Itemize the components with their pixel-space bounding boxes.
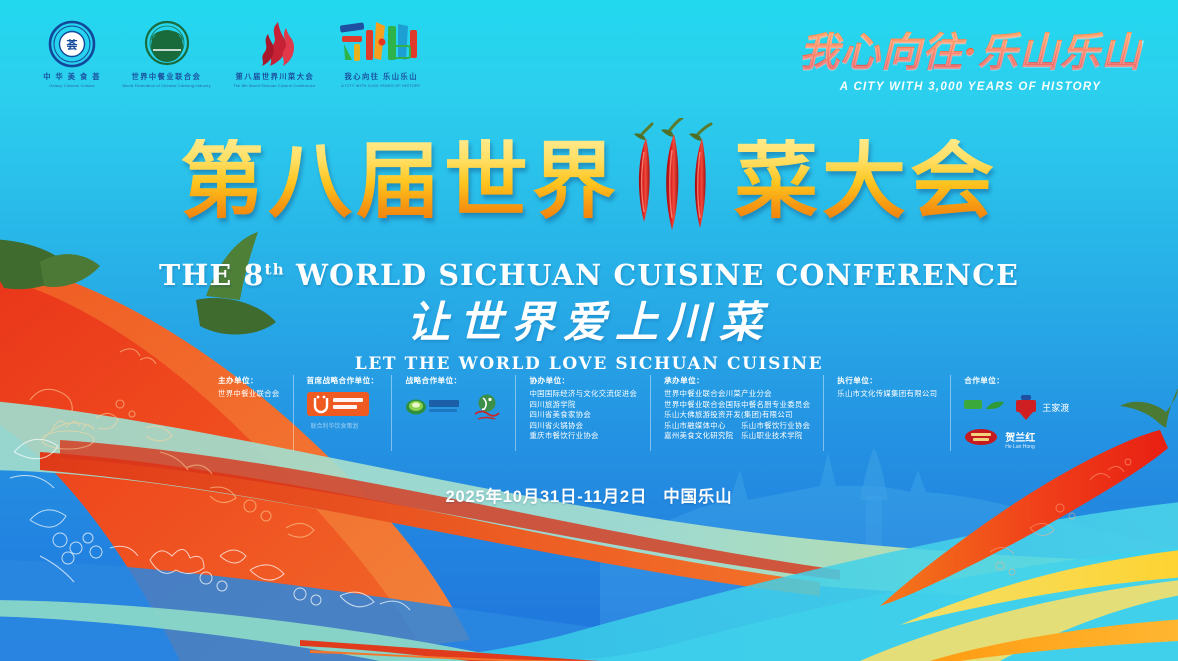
title-cn-right: 菜大会 xyxy=(734,139,998,223)
event-dates: 2025年10月31日-11月2日 xyxy=(446,488,648,506)
cyan-swoosh-2 xyxy=(520,545,1178,661)
org-head: 合作单位： xyxy=(964,375,1069,386)
teal-thin-band xyxy=(0,600,520,661)
org-line: 世界中餐业联合会国际中餐名厨专业委员会 xyxy=(664,400,810,411)
conference-poster: 荟 中 华 美 食 荟 Galaxy Chinese Cuisine 世界中餐业… xyxy=(0,0,1178,661)
logo-conference-flame[interactable]: 第八届世界川菜大会 The 8th World Sichuan Cuisine … xyxy=(231,20,317,88)
city-slogan-cn: 我心向往·乐山乐山 xyxy=(799,20,1142,78)
logo-label-en: World Federation of Chinese Catering Ind… xyxy=(123,83,211,88)
logo-world-federation[interactable]: 世界中餐业联合会 World Federation of Chinese Cat… xyxy=(120,20,213,88)
tagline-block: 让世界爱上川菜 LET THE WORLD LOVE SICHUAN CUISI… xyxy=(0,288,1178,374)
red-thin-band xyxy=(300,640,600,661)
red-ribbon-2 xyxy=(60,440,840,580)
org-line: 世界中餐业联合会川菜产业分会 xyxy=(664,389,810,400)
main-title-cn: 第八届世界 xyxy=(180,118,998,244)
chunzhirun-logo[interactable] xyxy=(472,392,502,422)
right-chili-stem xyxy=(1120,388,1178,428)
title-en-prefix: THE 8 xyxy=(159,258,265,292)
title-en-sup: th xyxy=(265,261,285,279)
org-line: 嘉州美食文化研究院 乐山职业技术学院 xyxy=(664,431,810,442)
blue-wedge-lower xyxy=(0,560,1178,661)
logo-label-cn: 第八届世界川菜大会 xyxy=(235,71,314,82)
main-title-block: 第八届世界 xyxy=(0,118,1178,292)
logo-label-en: A CITY WITH 3,000 YEARS OF HISTORY xyxy=(341,83,421,88)
org-col-chief-strategic-partner: 首席战略合作单位： 联合利华饮食策划 xyxy=(293,375,392,451)
org-line: 乐山市文化传媒集团有限公司 xyxy=(837,389,937,400)
orange-thin-band xyxy=(310,650,610,661)
org-col-organizers: 承办单位： 世界中餐业联合会川菜产业分会 世界中餐业联合会国际中餐名厨专业委员会… xyxy=(650,375,823,451)
org-col-host: 主办单位： 世界中餐业联合会 xyxy=(205,375,293,451)
wangjiadu-logo[interactable]: 王家渡 xyxy=(1013,392,1069,422)
org-line: 重庆市餐饮行业协会 xyxy=(529,431,637,442)
org-head: 协办单位： xyxy=(529,375,637,386)
helanhong-label-cn: 贺兰红 xyxy=(1005,429,1035,444)
organizer-row: 主办单位： 世界中餐业联合会 首席战略合作单位： 联合利华饮食策划 战 xyxy=(205,375,1082,451)
leshan-city-brand-logo xyxy=(336,16,426,68)
org-logos xyxy=(405,392,502,422)
org-line: 乐山大佛旅游投资开发(集团)有限公司 xyxy=(664,410,810,421)
event-dateline: 2025年10月31日-11月2日中国乐山 xyxy=(0,483,1178,507)
org-head: 战略合作单位： xyxy=(405,375,502,386)
org-line: 乐山市融媒体中心 乐山市餐饮行业协会 xyxy=(664,421,810,432)
logo-label-cn: 我心向往 乐山乐山 xyxy=(344,71,417,82)
logo-chinese-cuisine-seal[interactable]: 荟 中 华 美 食 荟 Galaxy Chinese Cuisine xyxy=(42,20,102,88)
org-line: 中国国际经济与文化交流促进会 xyxy=(529,389,637,400)
partner-logo-strip: 荟 中 华 美 食 荟 Galaxy Chinese Cuisine 世界中餐业… xyxy=(42,16,426,88)
fortune-food-logo[interactable] xyxy=(405,396,463,418)
org-line: 世界中餐业联合会 xyxy=(218,389,280,400)
food-lineart-teal xyxy=(10,439,410,610)
logo-label-cn: 中 华 美 食 荟 xyxy=(43,71,101,82)
yellow-ribbon-right-2 xyxy=(860,578,1178,661)
flame-swirl-logo xyxy=(250,20,300,68)
svg-text:荟: 荟 xyxy=(66,38,79,52)
org-line: 四川省美食家协会 xyxy=(529,410,637,421)
city-slogan-en: A CITY WITH 3,000 YEARS OF HISTORY xyxy=(799,81,1142,93)
org-col-partners: 合作单位： 王家渡 xyxy=(950,375,1082,451)
helanhong-logo[interactable] xyxy=(964,428,998,451)
partner-logo-row-1: 王家渡 xyxy=(964,392,1069,422)
org-line: 四川省火锅协会 xyxy=(529,421,637,432)
event-location: 中国乐山 xyxy=(663,488,732,506)
food-lineart-rightchili xyxy=(990,459,1131,575)
red-ribbon xyxy=(40,452,820,596)
city-skyline-silhouette xyxy=(600,448,1178,661)
org-logos xyxy=(307,392,379,421)
tagline-en: LET THE WORLD LOVE SICHUAN CUISINE xyxy=(0,354,1178,374)
green-brand-logo[interactable] xyxy=(964,397,1006,418)
unilever-food-solutions-logo[interactable] xyxy=(307,392,369,421)
yellow-ribbon-right xyxy=(900,548,1178,625)
org-head: 承办单位： xyxy=(664,375,810,386)
wangjiadu-label: 王家渡 xyxy=(1042,401,1069,414)
tagline-cn: 让世界爱上川菜 xyxy=(0,288,1178,350)
org-head: 首席战略合作单位： xyxy=(307,375,379,386)
org-head: 主办单位： xyxy=(218,375,280,386)
title-cn-left: 第八届世界 xyxy=(180,139,620,223)
logo-label-en: The 8th World Sichuan Cuisine Conference xyxy=(233,83,315,88)
helanhong-label-en: He Lan Hong xyxy=(1005,444,1035,450)
org-logos: 王家渡 贺兰红 He Lan Hong xyxy=(964,392,1069,451)
org-col-strategic-partners: 战略合作单位： xyxy=(391,375,515,451)
main-title-en: THE 8th WORLD SICHUAN CUISINE CONFERENCE xyxy=(0,258,1178,292)
three-chili-peppers-icon xyxy=(622,118,732,238)
logo-label-en: Galaxy Chinese Cuisine xyxy=(49,83,95,88)
logo-label-cn: 世界中餐业联合会 xyxy=(132,71,202,82)
partner-logo-row-2: 贺兰红 He Lan Hong xyxy=(964,428,1069,451)
org-col-executor: 执行单位： 乐山市文化传媒集团有限公司 xyxy=(823,375,950,451)
right-chili-body xyxy=(880,430,1168,606)
globe-emblem-logo xyxy=(142,20,192,68)
chinese-cuisine-seal-logo: 荟 xyxy=(48,20,96,68)
city-slogan: 我心向往·乐山乐山 A CITY WITH 3,000 YEARS OF HIS… xyxy=(799,20,1142,93)
title-en-rest: WORLD SICHUAN CUISINE CONFERENCE xyxy=(285,258,1019,292)
unilever-brand-label: 联合利华饮食策划 xyxy=(311,421,379,430)
org-line: 四川旅游学院 xyxy=(529,400,637,411)
orange-ribbon-bottomright xyxy=(930,618,1178,661)
org-col-co-organizers: 协办单位： 中国国际经济与文化交流促进会 四川旅游学院 四川省美食家协会 四川省… xyxy=(515,375,650,451)
logo-leshan-city-brand[interactable]: 我心向往 乐山乐山 A CITY WITH 3,000 YEARS OF HIS… xyxy=(336,16,426,88)
org-head: 执行单位： xyxy=(837,375,937,386)
cyan-swoosh xyxy=(340,500,1178,661)
